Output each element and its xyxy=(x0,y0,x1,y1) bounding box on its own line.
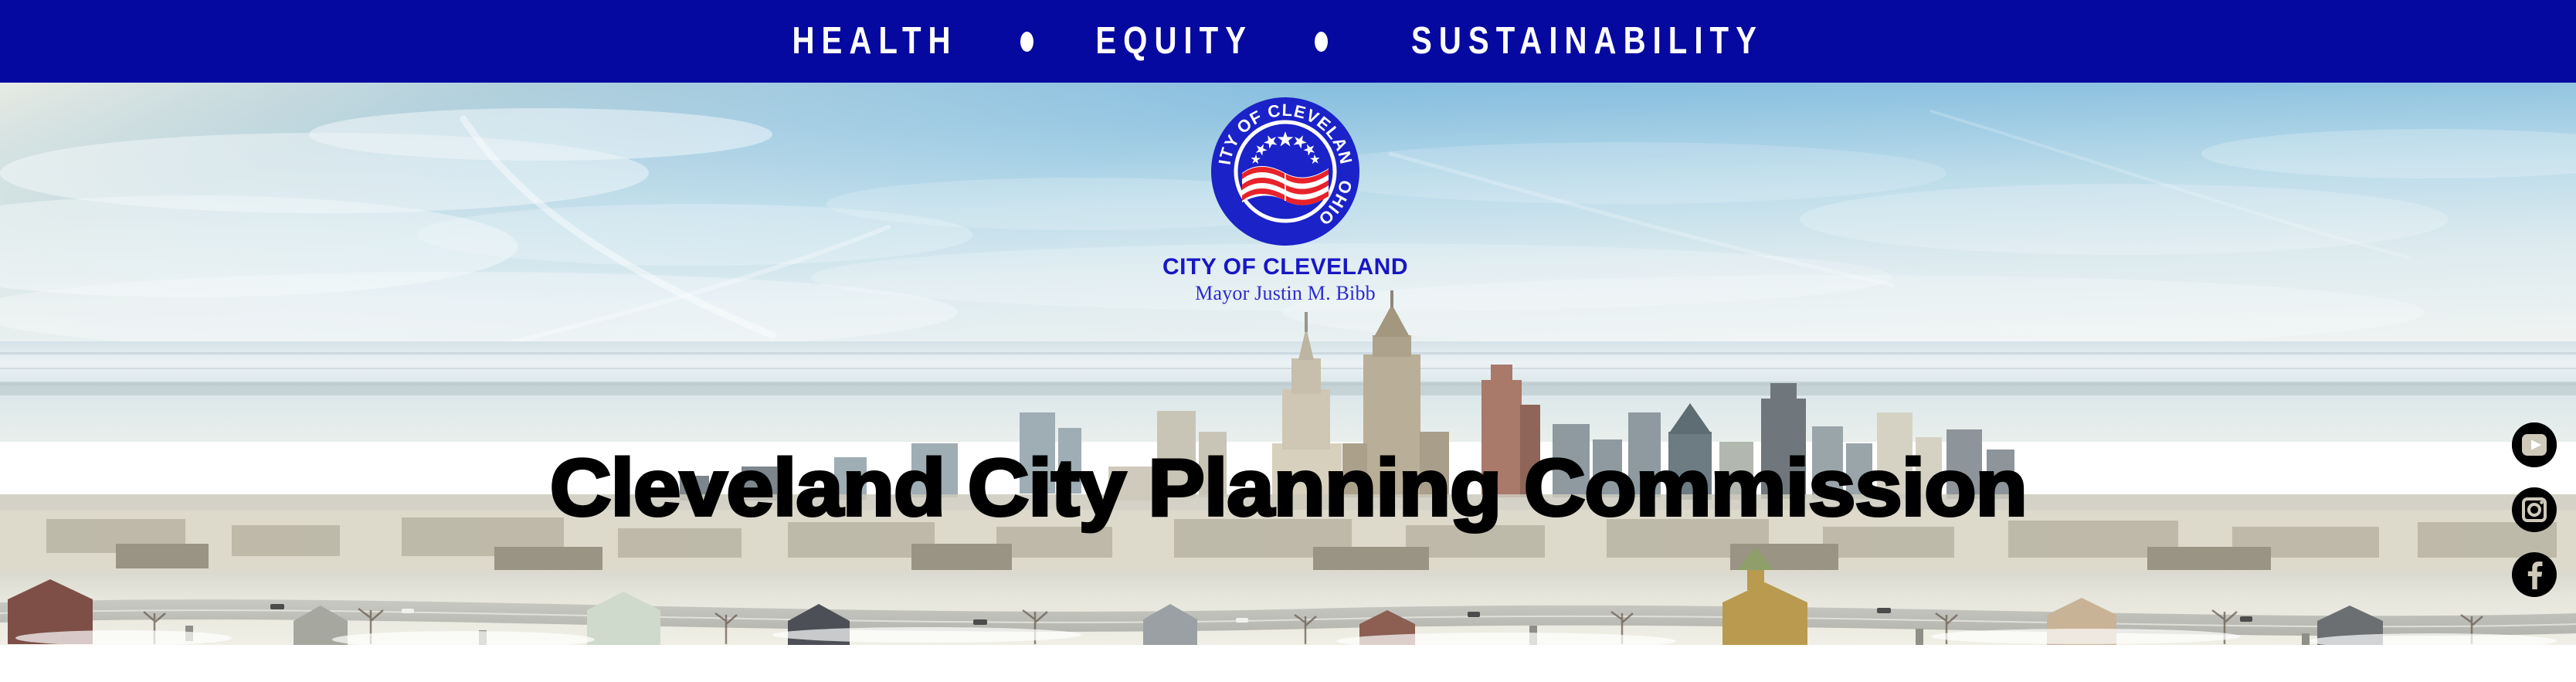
slogan-bar: HEALTH EQUITY SUSTAINABILITY xyxy=(0,0,2576,83)
cleveland-planning-banner: HEALTH EQUITY SUSTAINABILITY xyxy=(0,0,2576,682)
youtube-icon[interactable] xyxy=(2511,422,2557,468)
slogan-word-sustainability: SUSTAINABILITY xyxy=(1407,22,1769,60)
city-of-cleveland-logo-block: CITY OF CLEVELAND OHIO xyxy=(1092,94,1478,318)
facebook-icon[interactable] xyxy=(2511,551,2557,598)
instagram-icon[interactable] xyxy=(2511,487,2557,533)
bottom-white-strip xyxy=(0,645,2576,682)
city-of-cleveland-seal-icon: CITY OF CLEVELAND OHIO xyxy=(1208,94,1363,249)
seal-title: CITY OF CLEVELAND xyxy=(1092,255,1478,280)
slogan-word-equity: EQUITY xyxy=(1091,22,1258,60)
seal-subtitle: Mayor Justin M. Bibb xyxy=(1092,282,1478,305)
slogan-inner: HEALTH EQUITY SUSTAINABILITY xyxy=(768,22,1808,60)
bullet-dot-icon xyxy=(1020,32,1033,52)
slogan-word-health: HEALTH xyxy=(787,22,962,60)
social-links xyxy=(2508,422,2561,598)
bullet-dot-icon xyxy=(1315,32,1328,52)
